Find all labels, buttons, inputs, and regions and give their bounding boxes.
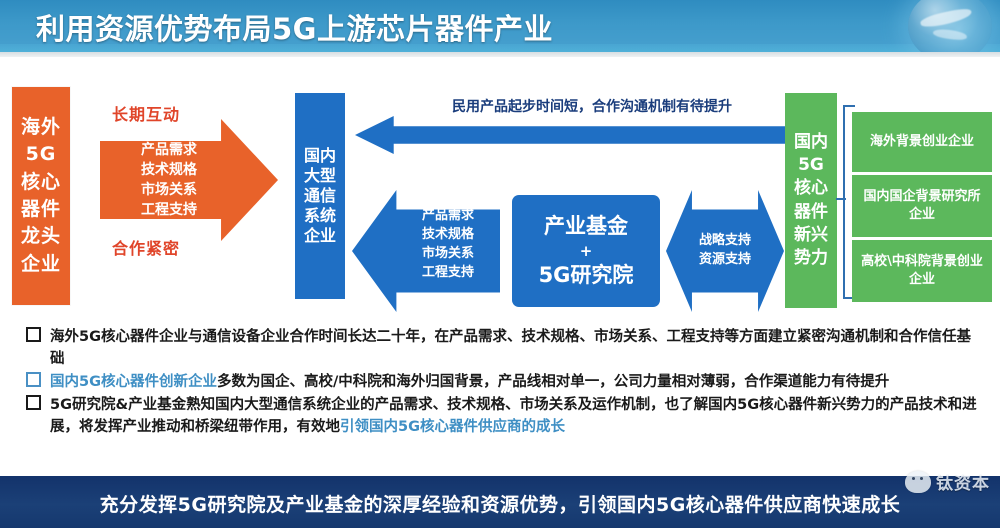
bullet-item-2: 国内5G核心器件创新企业多数为国企、高校/中科院和海外归国背景，产品线相对单一，… [20,371,982,393]
top-arrow-label: 民用产品起步时间短，合作沟通机制有待提升 [392,96,792,116]
green-box-overseas-startup: 海外背景创业企业 [852,112,992,172]
bullet-marker-icon [26,395,41,410]
slide-header: 利用资源优势布局5G上游芯片器件产业 [0,0,1000,52]
domestic-new-force-column: 国内 5G 核心 器件 新兴 势力 [785,93,837,308]
bullet-item-1: 海外5G核心器件企业与通信设备企业合作时间长达二十年，在产品需求、技术规格、市场… [20,326,982,370]
bullet-text: 海外5G核心器件企业与通信设备企业合作时间长达二十年，在产品需求、技术规格、市场… [50,329,971,367]
overseas-company-column: 海外 5G 核心 器件 龙头 企业 [12,87,70,305]
footer-text: 充分发挥5G研究院及产业基金的深厚经验和资源优势，引领国内5G核心器件供应商快速… [0,490,1000,517]
bullet-text: 5G研究院&产业基金熟知国内大型通信系统企业的产品需求、技术规格、市场关系及运作… [50,397,977,435]
mid-arrow-items: 产品需求 技术规格 市场关系 工程支持 [398,207,498,282]
mid-arrow-item: 技术规格 [398,226,498,245]
overseas-line: 核心 [21,172,61,193]
carrier-line: 国内 [304,147,336,165]
bullet-highlight: 国内5G核心器件创新企业 [50,374,217,390]
double-arrow-item: 资源支持 [684,251,766,270]
green-box-university-startup: 高校\中科院背景创业企业 [852,240,992,302]
carrier-line: 企业 [304,227,336,245]
diagram: 海外 5G 核心 器件 龙头 企业 长期互动 合作紧密 产品需求 技术规格 市场… [0,57,1000,319]
orange-arrow-item: 产品需求 [104,141,234,161]
bullet-text: 国内5G核心器件创新企业多数为国企、高校/中科院和海外归国背景，产品线相对单一，… [50,374,889,390]
new-force-line: 新兴 [794,226,828,245]
orange-arrow-item: 技术规格 [104,161,234,181]
bullet-item-3: 5G研究院&产业基金熟知国内大型通信系统企业的产品需求、技术规格、市场关系及运作… [20,394,982,438]
mid-arrow-item: 工程支持 [398,264,498,283]
fund-box-plus: + [580,242,593,261]
overseas-line: 海外 [21,117,61,138]
new-force-line: 器件 [794,203,828,222]
top-left-arrow [355,116,785,154]
green-box-soe-institute: 国内国企背景研究所企业 [852,175,992,237]
fund-research-box: 产业基金 + 5G研究院 [512,195,660,307]
overseas-line: 企业 [21,254,61,275]
carrier-line: 通信 [304,187,336,205]
slide: 利用资源优势布局5G上游芯片器件产业 海外 5G 核心 器件 龙头 企业 长期互… [0,0,1000,528]
bullet-marker-icon [26,327,41,342]
long-term-interaction-label: 长期互动 [112,101,180,125]
bracket-stub [836,198,846,200]
carrier-line: 系统 [304,207,336,225]
new-force-line: 5G [798,156,824,175]
fund-box-line3: 5G研究院 [539,262,634,288]
bullet-marker-icon [26,372,41,387]
overseas-line: 器件 [21,199,61,220]
carrier-line: 大型 [304,167,336,185]
double-arrow-item: 战略支持 [684,232,766,251]
fund-box-line1: 产业基金 [544,213,628,239]
orange-arrow-item: 市场关系 [104,181,234,201]
close-cooperation-label: 合作紧密 [112,235,180,259]
orange-arrow-items: 产品需求 技术规格 市场关系 工程支持 [104,141,234,221]
bullet-highlight: 引领国内5G核心器件供应商的成长 [340,419,565,435]
new-force-line: 核心 [794,179,828,198]
mid-arrow-item: 市场关系 [398,245,498,264]
domestic-carrier-column: 国内 大型 通信 系统 企业 [295,93,345,299]
orange-arrow-item: 工程支持 [104,201,234,221]
new-force-line: 国内 [794,133,828,152]
globe-icon [908,0,992,52]
overseas-line: 龙头 [21,226,61,247]
bullet-list: 海外5G核心器件企业与通信设备企业合作时间长达二十年，在产品需求、技术规格、市场… [20,326,982,466]
new-force-line: 势力 [794,249,828,268]
mid-arrow-item: 产品需求 [398,207,498,226]
double-arrow-items: 战略支持 资源支持 [684,232,766,270]
page-title: 利用资源优势布局5G上游芯片器件产业 [36,6,553,48]
overseas-line: 5G [26,144,57,165]
